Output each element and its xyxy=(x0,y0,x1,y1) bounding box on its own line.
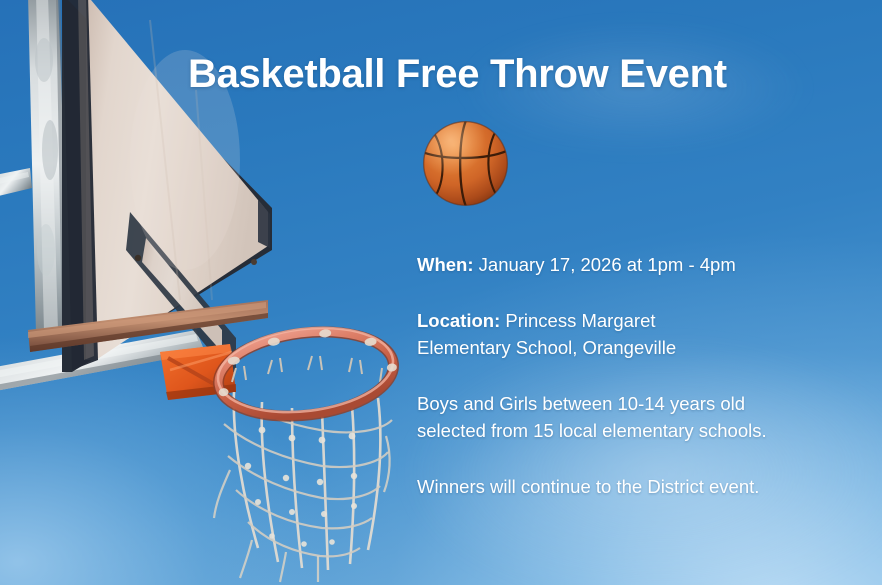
location-value-line1: Princess Margaret xyxy=(505,310,655,331)
winners-line: Winners will continue to the District ev… xyxy=(417,473,867,500)
page-title: Basketball Free Throw Event xyxy=(188,52,864,96)
when-value: January 17, 2026 at 1pm - 4pm xyxy=(479,254,736,275)
winners-text: Winners will continue to the District ev… xyxy=(417,476,759,497)
eligibility-line2: selected from 15 local elementary school… xyxy=(417,420,767,441)
location-label: Location: xyxy=(417,310,500,331)
event-details: When: January 17, 2026 at 1pm - 4pm Loca… xyxy=(417,251,867,500)
when-label: When: xyxy=(417,254,474,275)
eligibility-line1: Boys and Girls between 10-14 years old xyxy=(417,393,745,414)
location-value-line2: Elementary School, Orangeville xyxy=(417,337,676,358)
event-poster: Basketball Free Throw Event When: Januar… xyxy=(0,0,882,585)
location-line: Location: Princess Margaret Elementary S… xyxy=(417,307,867,361)
when-line: When: January 17, 2026 at 1pm - 4pm xyxy=(417,251,867,278)
eligibility-line: Boys and Girls between 10-14 years old s… xyxy=(417,390,867,444)
